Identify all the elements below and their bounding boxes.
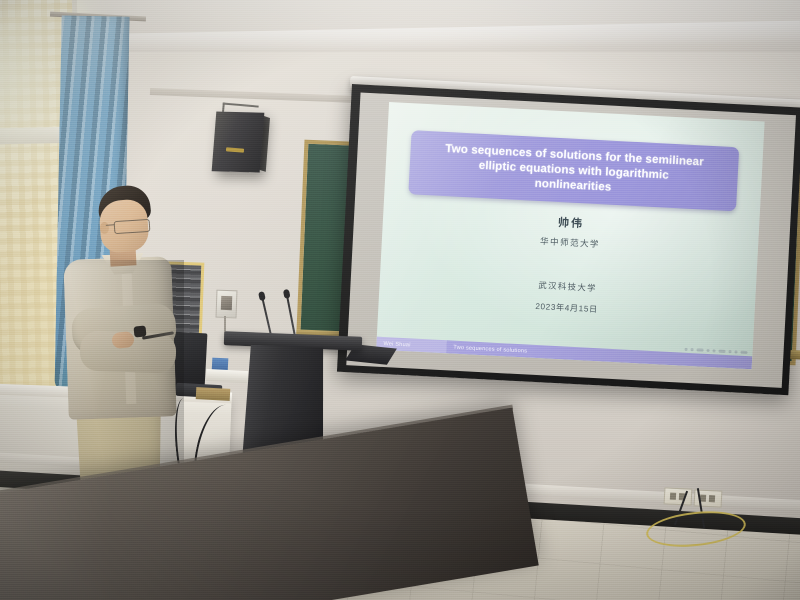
wall-outlet-right-a[interactable] [664,487,693,505]
lecture-hall-photo: Two sequences of solutions for the semil… [0,0,800,600]
cardboard-box [196,387,231,401]
wall-control-panel[interactable] [216,290,238,319]
projection-screen: Two sequences of solutions for the semil… [337,84,800,395]
wristwatch [133,325,146,337]
wall-speaker [212,111,265,172]
slide-surface: Two sequences of solutions for the semil… [376,102,764,369]
presentation-slide: Two sequences of solutions for the semil… [376,102,764,369]
stacked-papers [206,369,249,383]
slide-title-banner: Two sequences of solutions for the semil… [409,130,739,211]
glasses-icon [114,219,151,234]
